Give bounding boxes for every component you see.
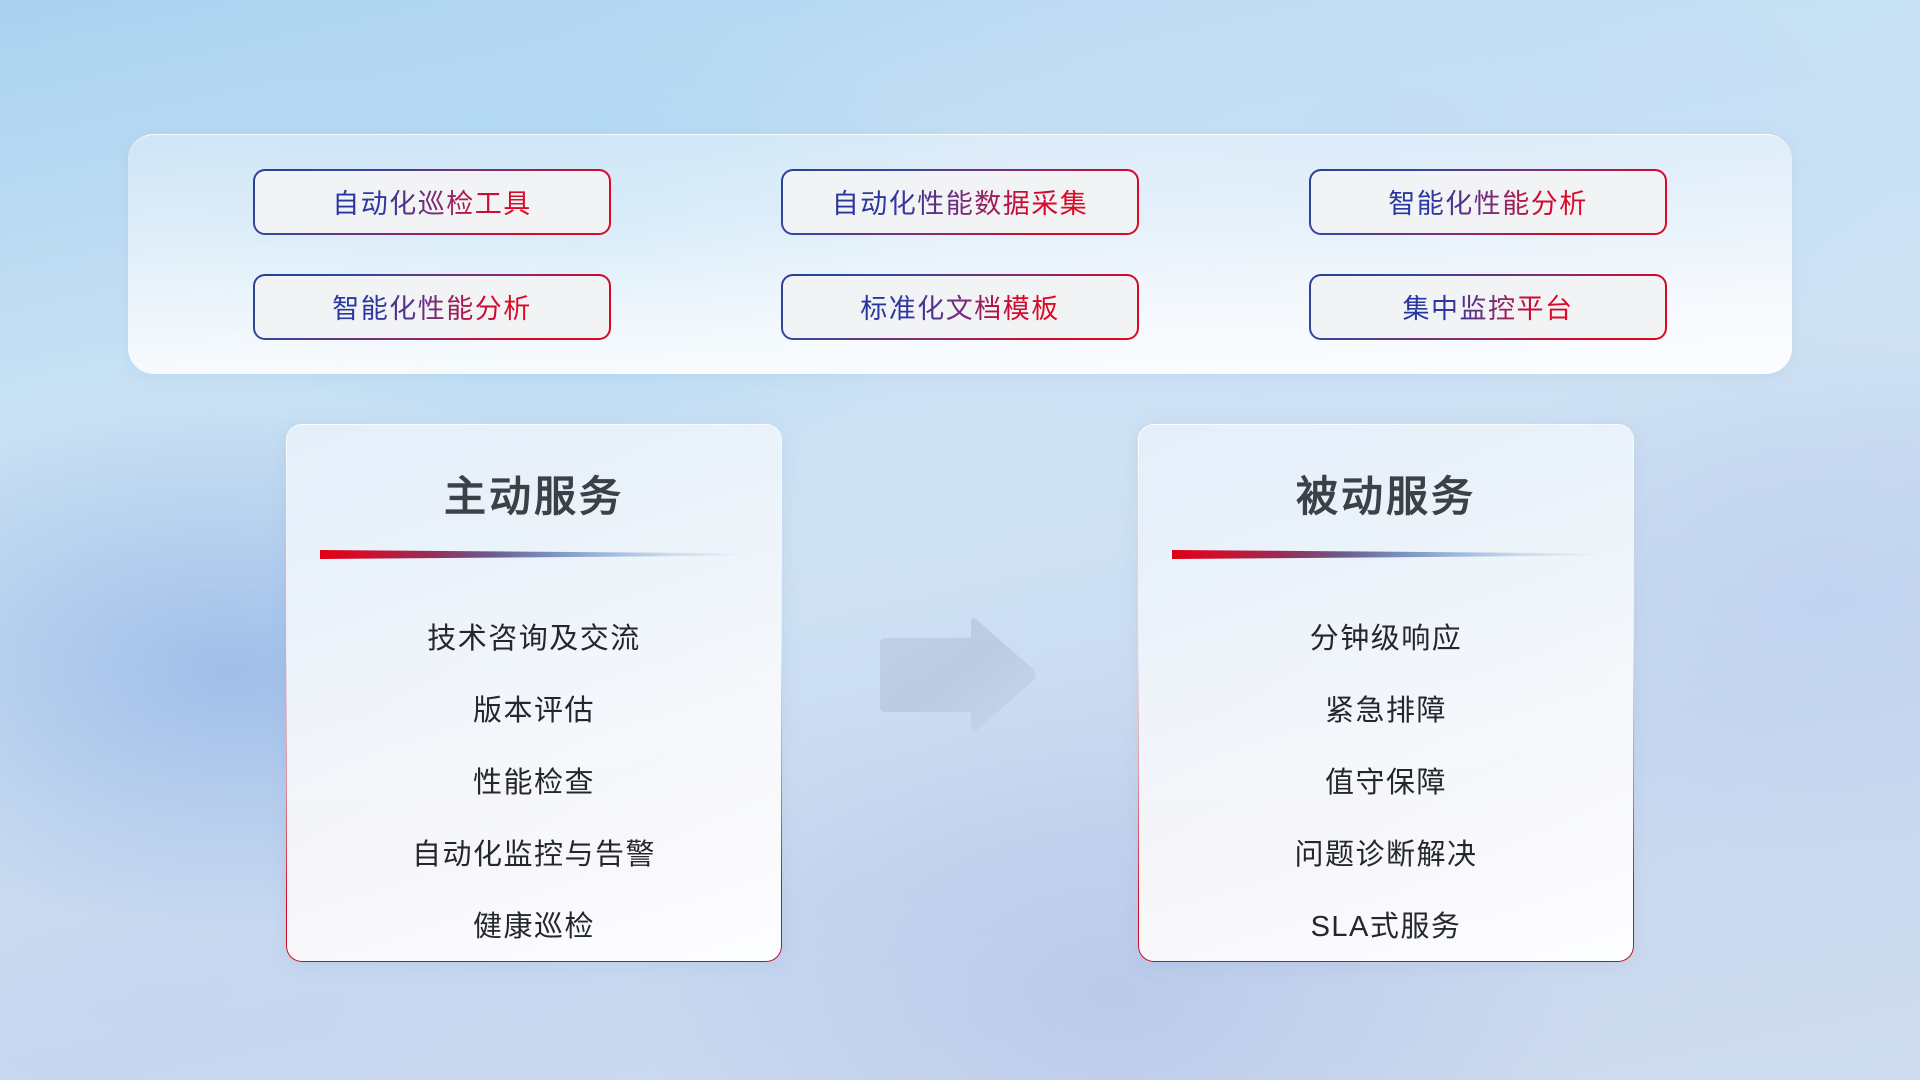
service-card-reactive: 被动服务 分钟级响应 紧急排障 值守保障 问题诊断解决 SLA式服务 — [1138, 424, 1634, 962]
card-divider — [1172, 550, 1600, 559]
service-card-proactive: 主动服务 技术咨询及交流 版本评估 性能检查 自动化监控与告警 健康巡检 — [286, 424, 782, 962]
service-list-item: 值守保障 — [1325, 747, 1447, 819]
capability-pill-label: 标准化文档模板 — [860, 287, 1060, 326]
capability-pill-label: 自动化巡检工具 — [332, 182, 532, 221]
card-divider — [320, 550, 748, 559]
service-item-list: 技术咨询及交流 版本评估 性能检查 自动化监控与告警 健康巡检 — [287, 603, 781, 963]
service-list-item: SLA式服务 — [1311, 891, 1462, 963]
service-list-item: 自动化监控与告警 — [412, 819, 656, 891]
service-card-title: 主动服务 — [287, 463, 781, 524]
capability-pill[interactable]: 自动化巡检工具 — [253, 169, 611, 235]
arrow-right-icon — [874, 616, 1038, 734]
capability-pill[interactable]: 标准化文档模板 — [781, 274, 1139, 340]
service-list-item: 版本评估 — [473, 675, 595, 747]
service-list-item: 技术咨询及交流 — [427, 603, 641, 675]
capability-pill-grid: 自动化巡检工具 自动化性能数据采集 智能化性能分析 智能化性能分析 标准化文档模… — [128, 134, 1792, 374]
capability-pill[interactable]: 自动化性能数据采集 — [781, 169, 1139, 235]
service-list-item: 健康巡检 — [473, 891, 595, 963]
capability-pill-label: 集中监控平台 — [1403, 287, 1574, 326]
capability-pill[interactable]: 智能化性能分析 — [1309, 169, 1667, 235]
service-list-item: 分钟级响应 — [1310, 603, 1463, 675]
card-divider-bar — [1172, 550, 1600, 559]
service-card-title: 被动服务 — [1139, 463, 1633, 524]
service-list-item: 问题诊断解决 — [1294, 819, 1477, 891]
service-list-item: 性能检查 — [473, 747, 595, 819]
capability-pill-label: 智能化性能分析 — [332, 287, 532, 326]
capability-pill-label: 自动化性能数据采集 — [832, 182, 1089, 221]
capability-pill[interactable]: 智能化性能分析 — [253, 274, 611, 340]
service-item-list: 分钟级响应 紧急排障 值守保障 问题诊断解决 SLA式服务 — [1139, 603, 1633, 963]
card-divider-bar — [320, 550, 748, 559]
capability-pill-label: 智能化性能分析 — [1388, 182, 1588, 221]
capabilities-panel: 自动化巡检工具 自动化性能数据采集 智能化性能分析 智能化性能分析 标准化文档模… — [128, 134, 1792, 374]
service-list-item: 紧急排障 — [1325, 675, 1447, 747]
slide-canvas: 自动化巡检工具 自动化性能数据采集 智能化性能分析 智能化性能分析 标准化文档模… — [0, 0, 1920, 1080]
capability-pill[interactable]: 集中监控平台 — [1309, 274, 1667, 340]
